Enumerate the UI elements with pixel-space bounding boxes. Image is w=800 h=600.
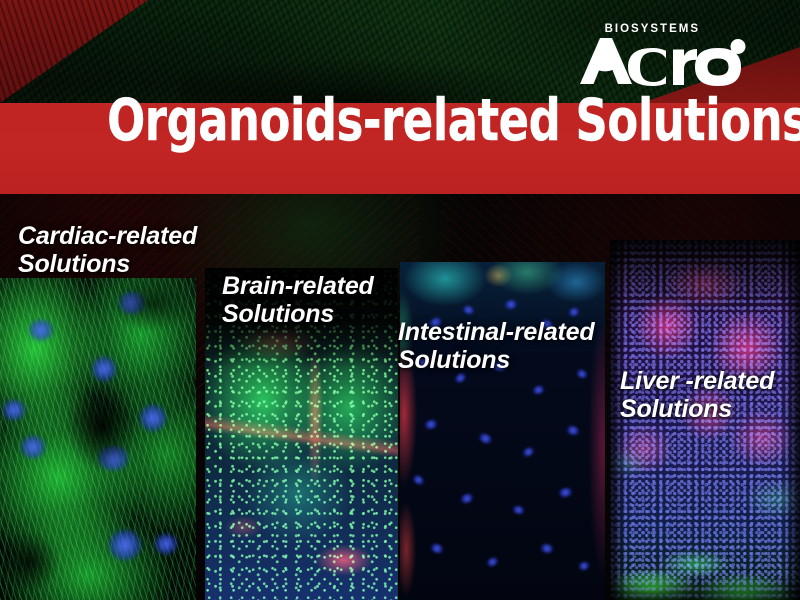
panel-cardiac-image[interactable] xyxy=(0,278,196,600)
caption-cardiac: Cardiac-related Solutions xyxy=(18,222,197,278)
cardiac-dark-regions xyxy=(0,278,196,600)
panel-intestinal-image[interactable] xyxy=(400,262,605,600)
acro-biosystems-logo[interactable]: BIOSYSTEMS xyxy=(578,24,746,86)
page-title-text: Organoids-related Solutions xyxy=(107,91,800,149)
caption-brain: Brain-related Solutions xyxy=(222,272,374,328)
logo-subtitle-biosystems: BIOSYSTEMS xyxy=(605,24,700,36)
page-title: Organoids-related Solutions xyxy=(50,120,800,178)
caption-liver: Liver -related Solutions xyxy=(620,367,774,423)
title-banner: Organoids-related Solutions xyxy=(0,103,800,194)
slide-canvas: BIOSYSTEMS xyxy=(0,0,800,600)
caption-intestinal: Intestinal-related Solutions xyxy=(398,318,594,374)
acro-wordmark-icon xyxy=(578,36,746,86)
